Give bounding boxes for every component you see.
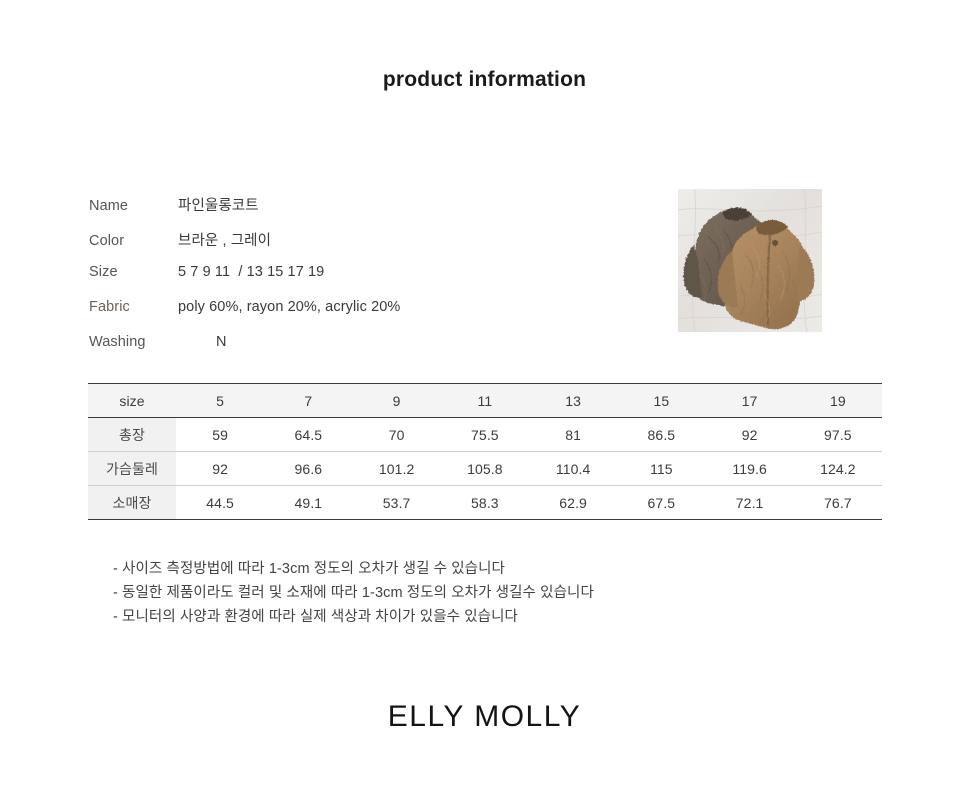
page-title: product information <box>0 68 969 92</box>
table-cell: 67.5 <box>617 486 705 520</box>
note-line: - 사이즈 측정방법에 따라 1-3cm 정도의 오차가 생길 수 있습니다 <box>113 557 833 581</box>
table-cell: 62.9 <box>529 486 617 520</box>
spec-value-size: 5 7 9 11 / 13 15 17 19 <box>178 264 324 280</box>
table-cell: 58.3 <box>441 486 529 520</box>
note-line: - 모니터의 사양과 환경에 따라 실제 색상과 차이가 있을수 있습니다 <box>113 605 833 629</box>
spec-label-washing: Washing <box>89 334 178 350</box>
spec-row-washing: Washing N <box>89 334 649 369</box>
table-cell: 115 <box>617 452 705 486</box>
table-cell: 76.7 <box>794 486 882 520</box>
spec-value-fabric: poly 60%, rayon 20%, acrylic 20% <box>178 299 400 315</box>
table-header-cell: 19 <box>794 384 882 418</box>
spec-label-fabric: Fabric <box>89 299 178 315</box>
product-photo <box>678 189 822 332</box>
spec-row-color: Color 브라운 , 그레이 <box>89 229 649 264</box>
table-cell: 64.5 <box>264 418 352 452</box>
table-header-cell: 11 <box>441 384 529 418</box>
table-row-label: 소매장 <box>88 486 176 520</box>
product-photo-image <box>678 189 822 332</box>
spec-row-size: Size 5 7 9 11 / 13 15 17 19 <box>89 264 649 299</box>
table-cell: 81 <box>529 418 617 452</box>
spec-row-fabric: Fabric poly 60%, rayon 20%, acrylic 20% <box>89 299 649 334</box>
table-cell: 72.1 <box>706 486 794 520</box>
table-row-label: 가슴둘레 <box>88 452 176 486</box>
table-row: 가슴둘레 92 96.6 101.2 105.8 110.4 115 119.6… <box>88 452 882 486</box>
table-header-cell: 9 <box>353 384 441 418</box>
table-cell: 96.6 <box>264 452 352 486</box>
table-cell: 70 <box>353 418 441 452</box>
product-spec-list: Name 파인울롱코트 Color 브라운 , 그레이 Size 5 7 9 1… <box>89 194 649 369</box>
spec-label-name: Name <box>89 198 178 214</box>
spec-value-washing: N <box>178 334 227 350</box>
table-header-cell: 17 <box>706 384 794 418</box>
table-cell: 49.1 <box>264 486 352 520</box>
brand-logo-text: ELLY MOLLY <box>0 700 969 734</box>
table-cell: 92 <box>706 418 794 452</box>
disclaimer-notes: - 사이즈 측정방법에 따라 1-3cm 정도의 오차가 생길 수 있습니다 -… <box>113 557 833 629</box>
table-cell: 105.8 <box>441 452 529 486</box>
table-cell: 44.5 <box>176 486 264 520</box>
table-cell: 124.2 <box>794 452 882 486</box>
table-header-cell: size <box>88 384 176 418</box>
table-row-label: 총장 <box>88 418 176 452</box>
spec-value-name: 파인울롱코트 <box>178 194 259 215</box>
table-cell: 110.4 <box>529 452 617 486</box>
table-cell: 119.6 <box>706 452 794 486</box>
table-row: 소매장 44.5 49.1 53.7 58.3 62.9 67.5 72.1 7… <box>88 486 882 520</box>
size-chart-table: size 5 7 9 11 13 15 17 19 총장 59 64.5 70 … <box>88 383 882 520</box>
spec-label-color: Color <box>89 233 178 249</box>
table-cell: 101.2 <box>353 452 441 486</box>
spec-value-color: 브라운 , 그레이 <box>178 229 271 250</box>
table-cell: 92 <box>176 452 264 486</box>
table-header-cell: 15 <box>617 384 705 418</box>
table-cell: 97.5 <box>794 418 882 452</box>
table-header-cell: 7 <box>264 384 352 418</box>
spec-label-size: Size <box>89 264 178 280</box>
table-cell: 59 <box>176 418 264 452</box>
table-cell: 86.5 <box>617 418 705 452</box>
table-row: 총장 59 64.5 70 75.5 81 86.5 92 97.5 <box>88 418 882 452</box>
table-cell: 75.5 <box>441 418 529 452</box>
table-header-row: size 5 7 9 11 13 15 17 19 <box>88 384 882 418</box>
spec-row-name: Name 파인울롱코트 <box>89 194 649 229</box>
table-header-cell: 13 <box>529 384 617 418</box>
table-cell: 53.7 <box>353 486 441 520</box>
note-line: - 동일한 제품이라도 컬러 및 소재에 따라 1-3cm 정도의 오차가 생길… <box>113 581 833 605</box>
table-header-cell: 5 <box>176 384 264 418</box>
